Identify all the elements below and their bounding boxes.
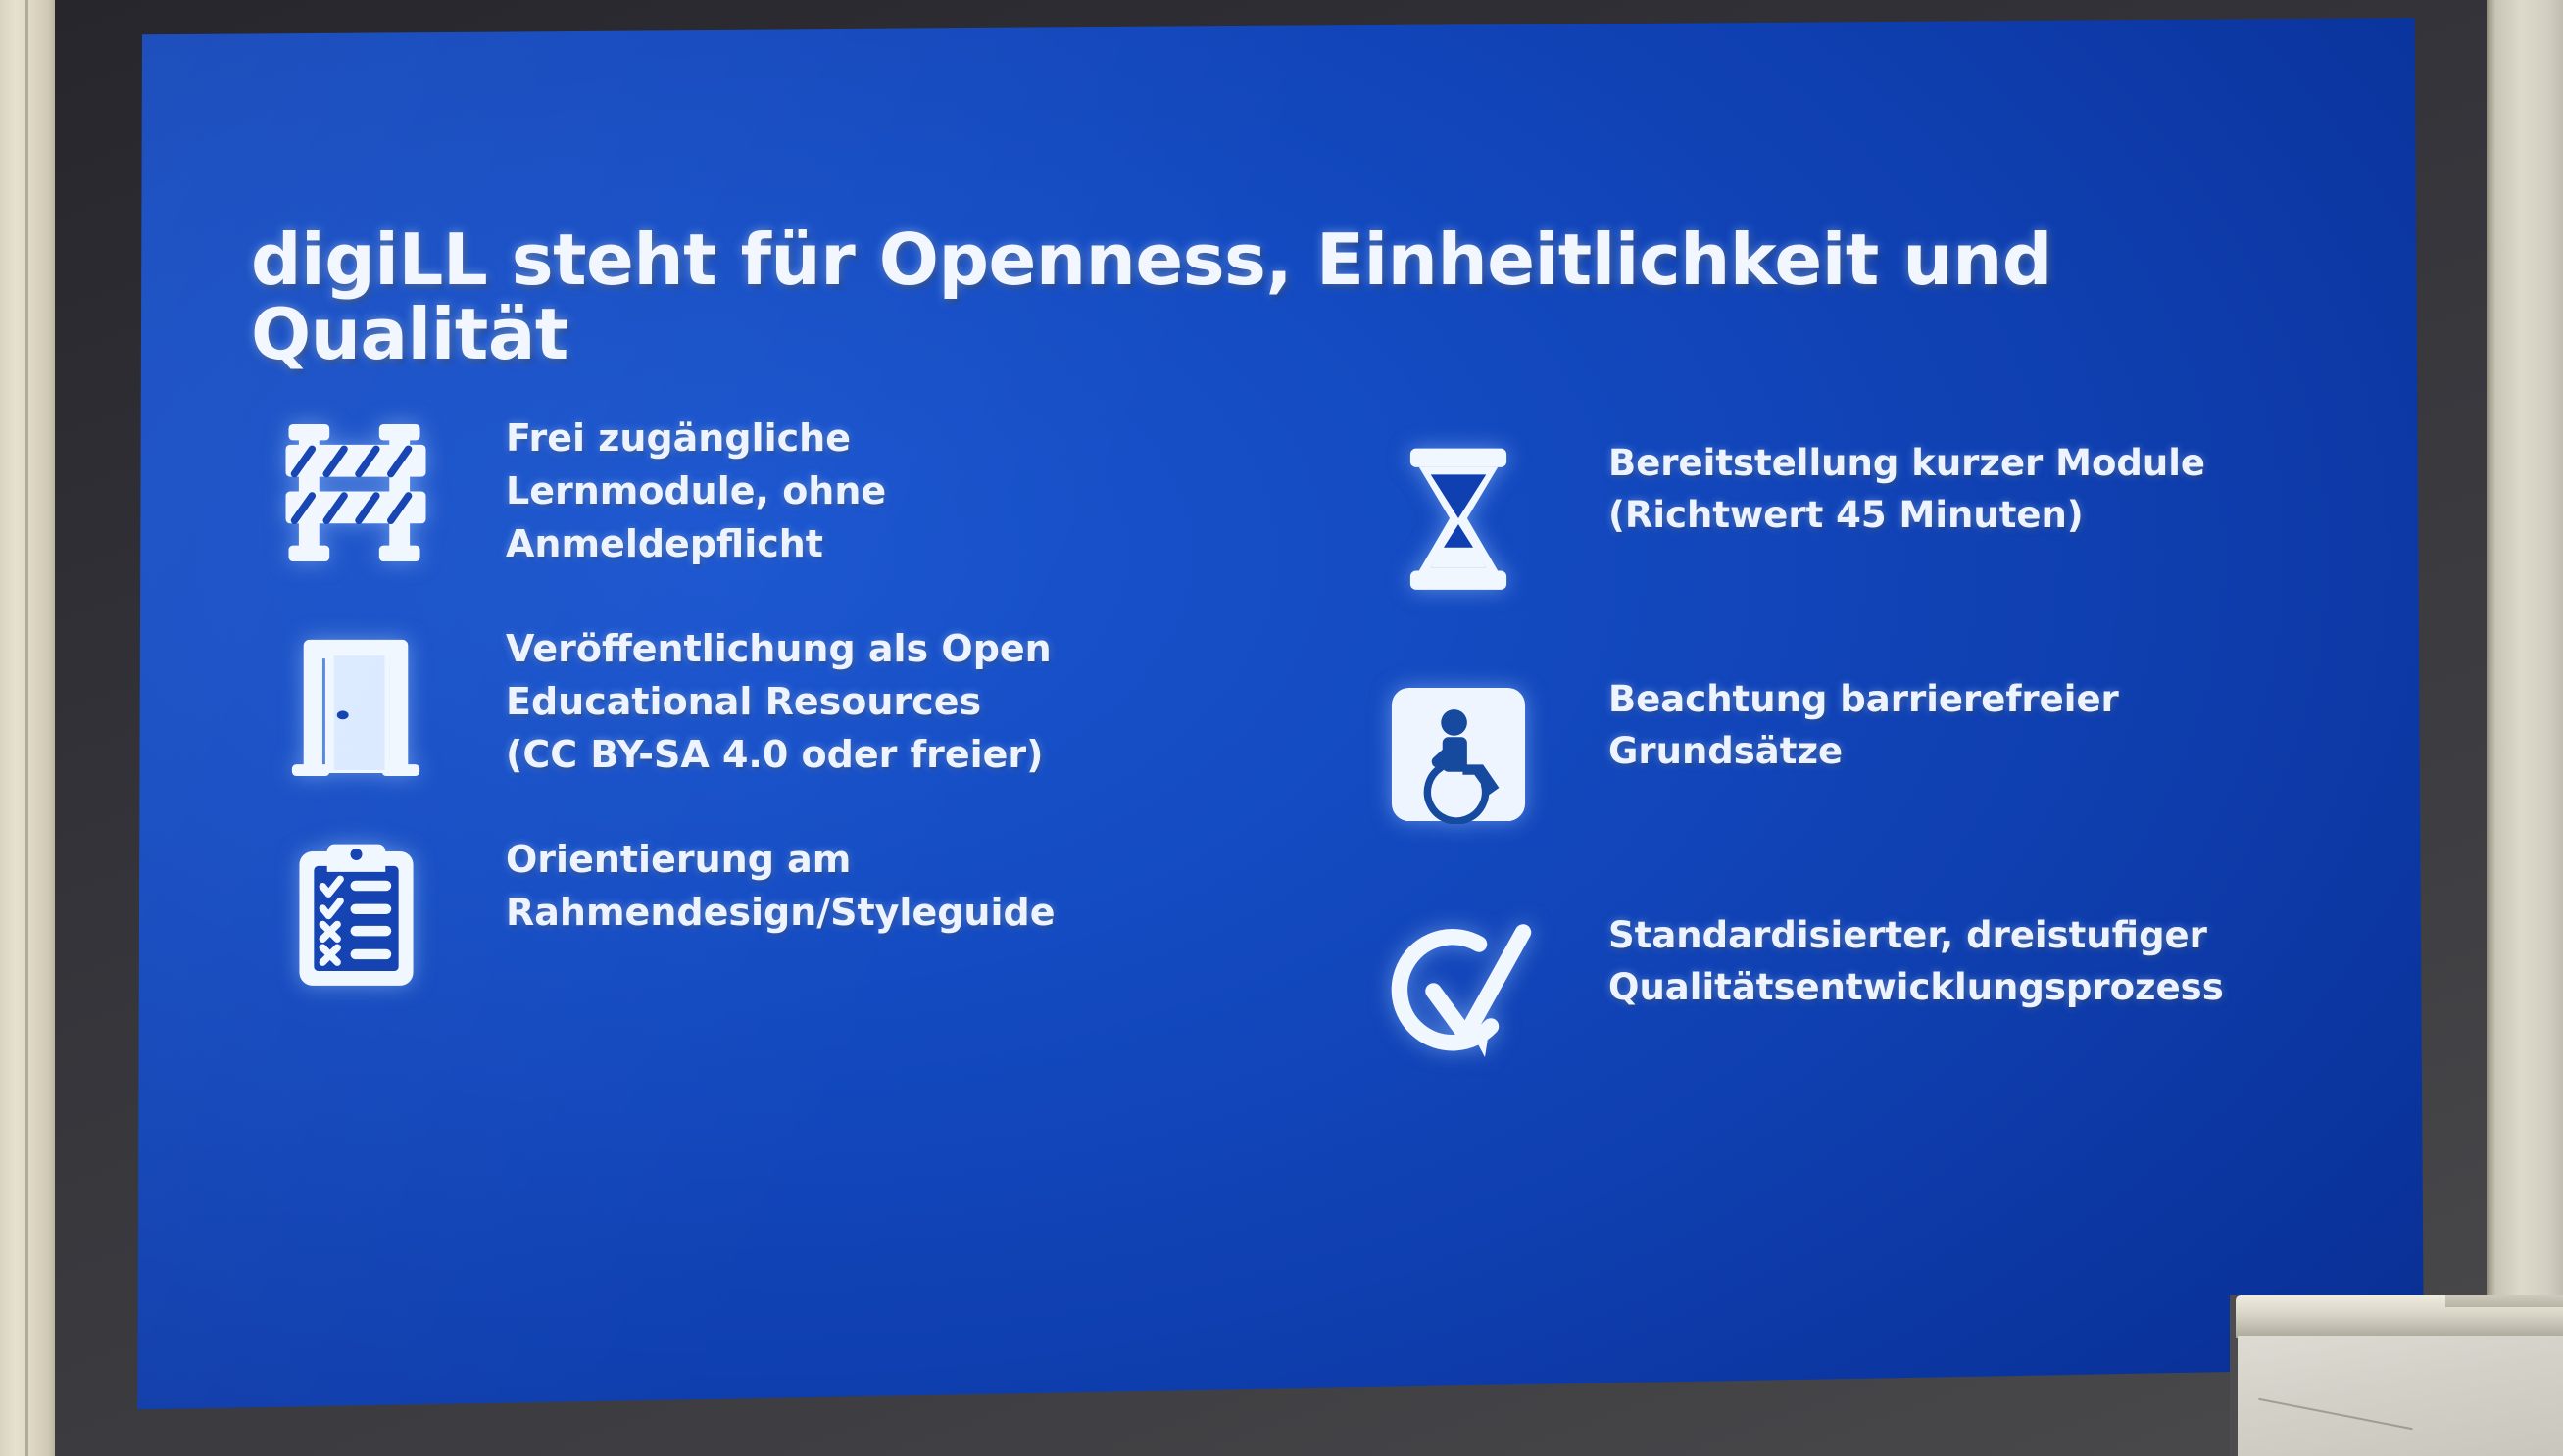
flipchart-paper: [2238, 1336, 2563, 1456]
feature-item-accessibility: Beachtung barrierefreier Grundsätze: [1365, 631, 2341, 867]
feature-line: Rahmendesign/Styleguide: [506, 887, 1055, 940]
feature-text: Beachtung barrierefreier Grundsätze: [1608, 656, 2119, 777]
feature-text: Orientierung am Rahmendesign/Styleguide: [506, 816, 1055, 940]
feature-text: Veröffentlichung als Open Educational Re…: [506, 606, 1052, 782]
feature-line: Lernmodule, ohne: [506, 465, 886, 518]
flipchart-crease: [2258, 1398, 2412, 1430]
feature-text: Standardisierter, dreistufiger Qualitäts…: [1608, 893, 2224, 1013]
feature-line: Orientierung am: [506, 834, 1055, 887]
feature-column-right: Bereitstellung kurzer Module (Richtwert …: [1365, 395, 2341, 1103]
road-barrier-icon: [263, 395, 449, 591]
feature-item-open-access: Frei zugängliche Lernmodule, ohne Anmeld…: [263, 395, 1238, 606]
feature-text: Frei zugängliche Lernmodule, ohne Anmeld…: [506, 395, 886, 571]
feature-line: Frei zugängliche: [506, 413, 886, 465]
feature-column-left: Frei zugängliche Lernmodule, ohne Anmeld…: [263, 395, 1238, 1103]
flipchart-rail: [2236, 1295, 2563, 1338]
wall-right: [2487, 0, 2563, 1456]
page-title: digiLL steht für Openness, Einheitlichke…: [251, 223, 2329, 371]
presentation-slide: digiLL steht für Openness, Einheitlichke…: [135, 18, 2424, 1431]
wheelchair-accessibility-icon: [1365, 656, 1552, 852]
open-door-icon: [263, 606, 449, 801]
feature-line: Standardisierter, dreistufiger: [1608, 910, 2224, 962]
feature-line: Veröffentlichung als Open: [506, 623, 1052, 676]
projector-screen-bezel: digiLL steht für Openness, Einheitlichke…: [55, 0, 2487, 1456]
feature-line: Grundsätze: [1608, 726, 2119, 778]
clipboard-checklist-icon: [263, 816, 449, 1012]
feature-grid: Frei zugängliche Lernmodule, ohne Anmeld…: [263, 395, 2341, 1103]
flipchart-top-notch: [2445, 1295, 2563, 1307]
feature-item-oer-license: Veröffentlichung als Open Educational Re…: [263, 606, 1238, 816]
room-photo-scene: digiLL steht für Openness, Einheitlichke…: [0, 0, 2563, 1456]
feature-line: (CC BY-SA 4.0 oder freier): [506, 729, 1052, 782]
feature-line: Bereitstellung kurzer Module: [1608, 438, 2205, 490]
flipchart-easel: [2230, 1287, 2563, 1456]
wall-left: [0, 0, 55, 1456]
hourglass-icon: [1365, 420, 1552, 616]
feature-text: Bereitstellung kurzer Module (Richtwert …: [1608, 420, 2205, 541]
feature-line: Anmeldepflicht: [506, 518, 886, 571]
feature-item-quality-process: Standardisierter, dreistufiger Qualitäts…: [1365, 867, 2341, 1103]
feature-line: (Richtwert 45 Minuten): [1608, 490, 2205, 542]
feature-item-module-length: Bereitstellung kurzer Module (Richtwert …: [1365, 395, 2341, 631]
feature-line: Qualitätsentwicklungsprozess: [1608, 962, 2224, 1014]
feature-line: Beachtung barrierefreier: [1608, 674, 2119, 726]
feature-line: Educational Resources: [506, 676, 1052, 729]
feature-item-styleguide: Orientierung am Rahmendesign/Styleguide: [263, 816, 1238, 1027]
cycle-checkmark-icon: [1365, 893, 1552, 1089]
